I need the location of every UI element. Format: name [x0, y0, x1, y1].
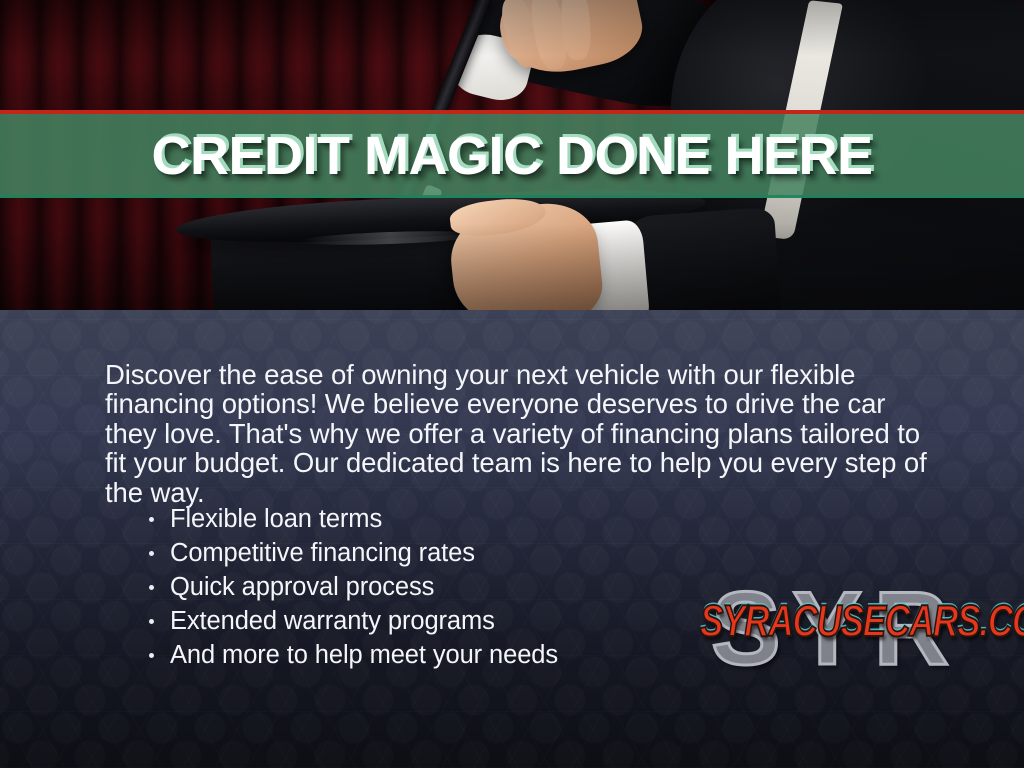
- promo-slide: CREDIT MAGIC DONE HERE Discover the ease…: [0, 0, 1024, 768]
- benefits-list: Flexible loan terms Competitive financin…: [146, 502, 558, 672]
- list-item: And more to help meet your needs: [146, 638, 558, 672]
- list-item: Flexible loan terms: [146, 502, 558, 536]
- content-panel: Discover the ease of owning your next ve…: [0, 310, 1024, 768]
- list-item: Quick approval process: [146, 570, 558, 604]
- intro-paragraph: Discover the ease of owning your next ve…: [105, 360, 935, 508]
- headline-banner: CREDIT MAGIC DONE HERE: [0, 110, 1024, 198]
- list-item: Competitive financing rates: [146, 536, 558, 570]
- list-item: Extended warranty programs: [146, 604, 558, 638]
- page-title: CREDIT MAGIC DONE HERE: [151, 129, 872, 183]
- dealership-logo[interactable]: SYR SYRACUSECARS.COM: [692, 566, 980, 692]
- logo-wordmark-syracusecars: SYRACUSECARS.COM: [700, 599, 972, 644]
